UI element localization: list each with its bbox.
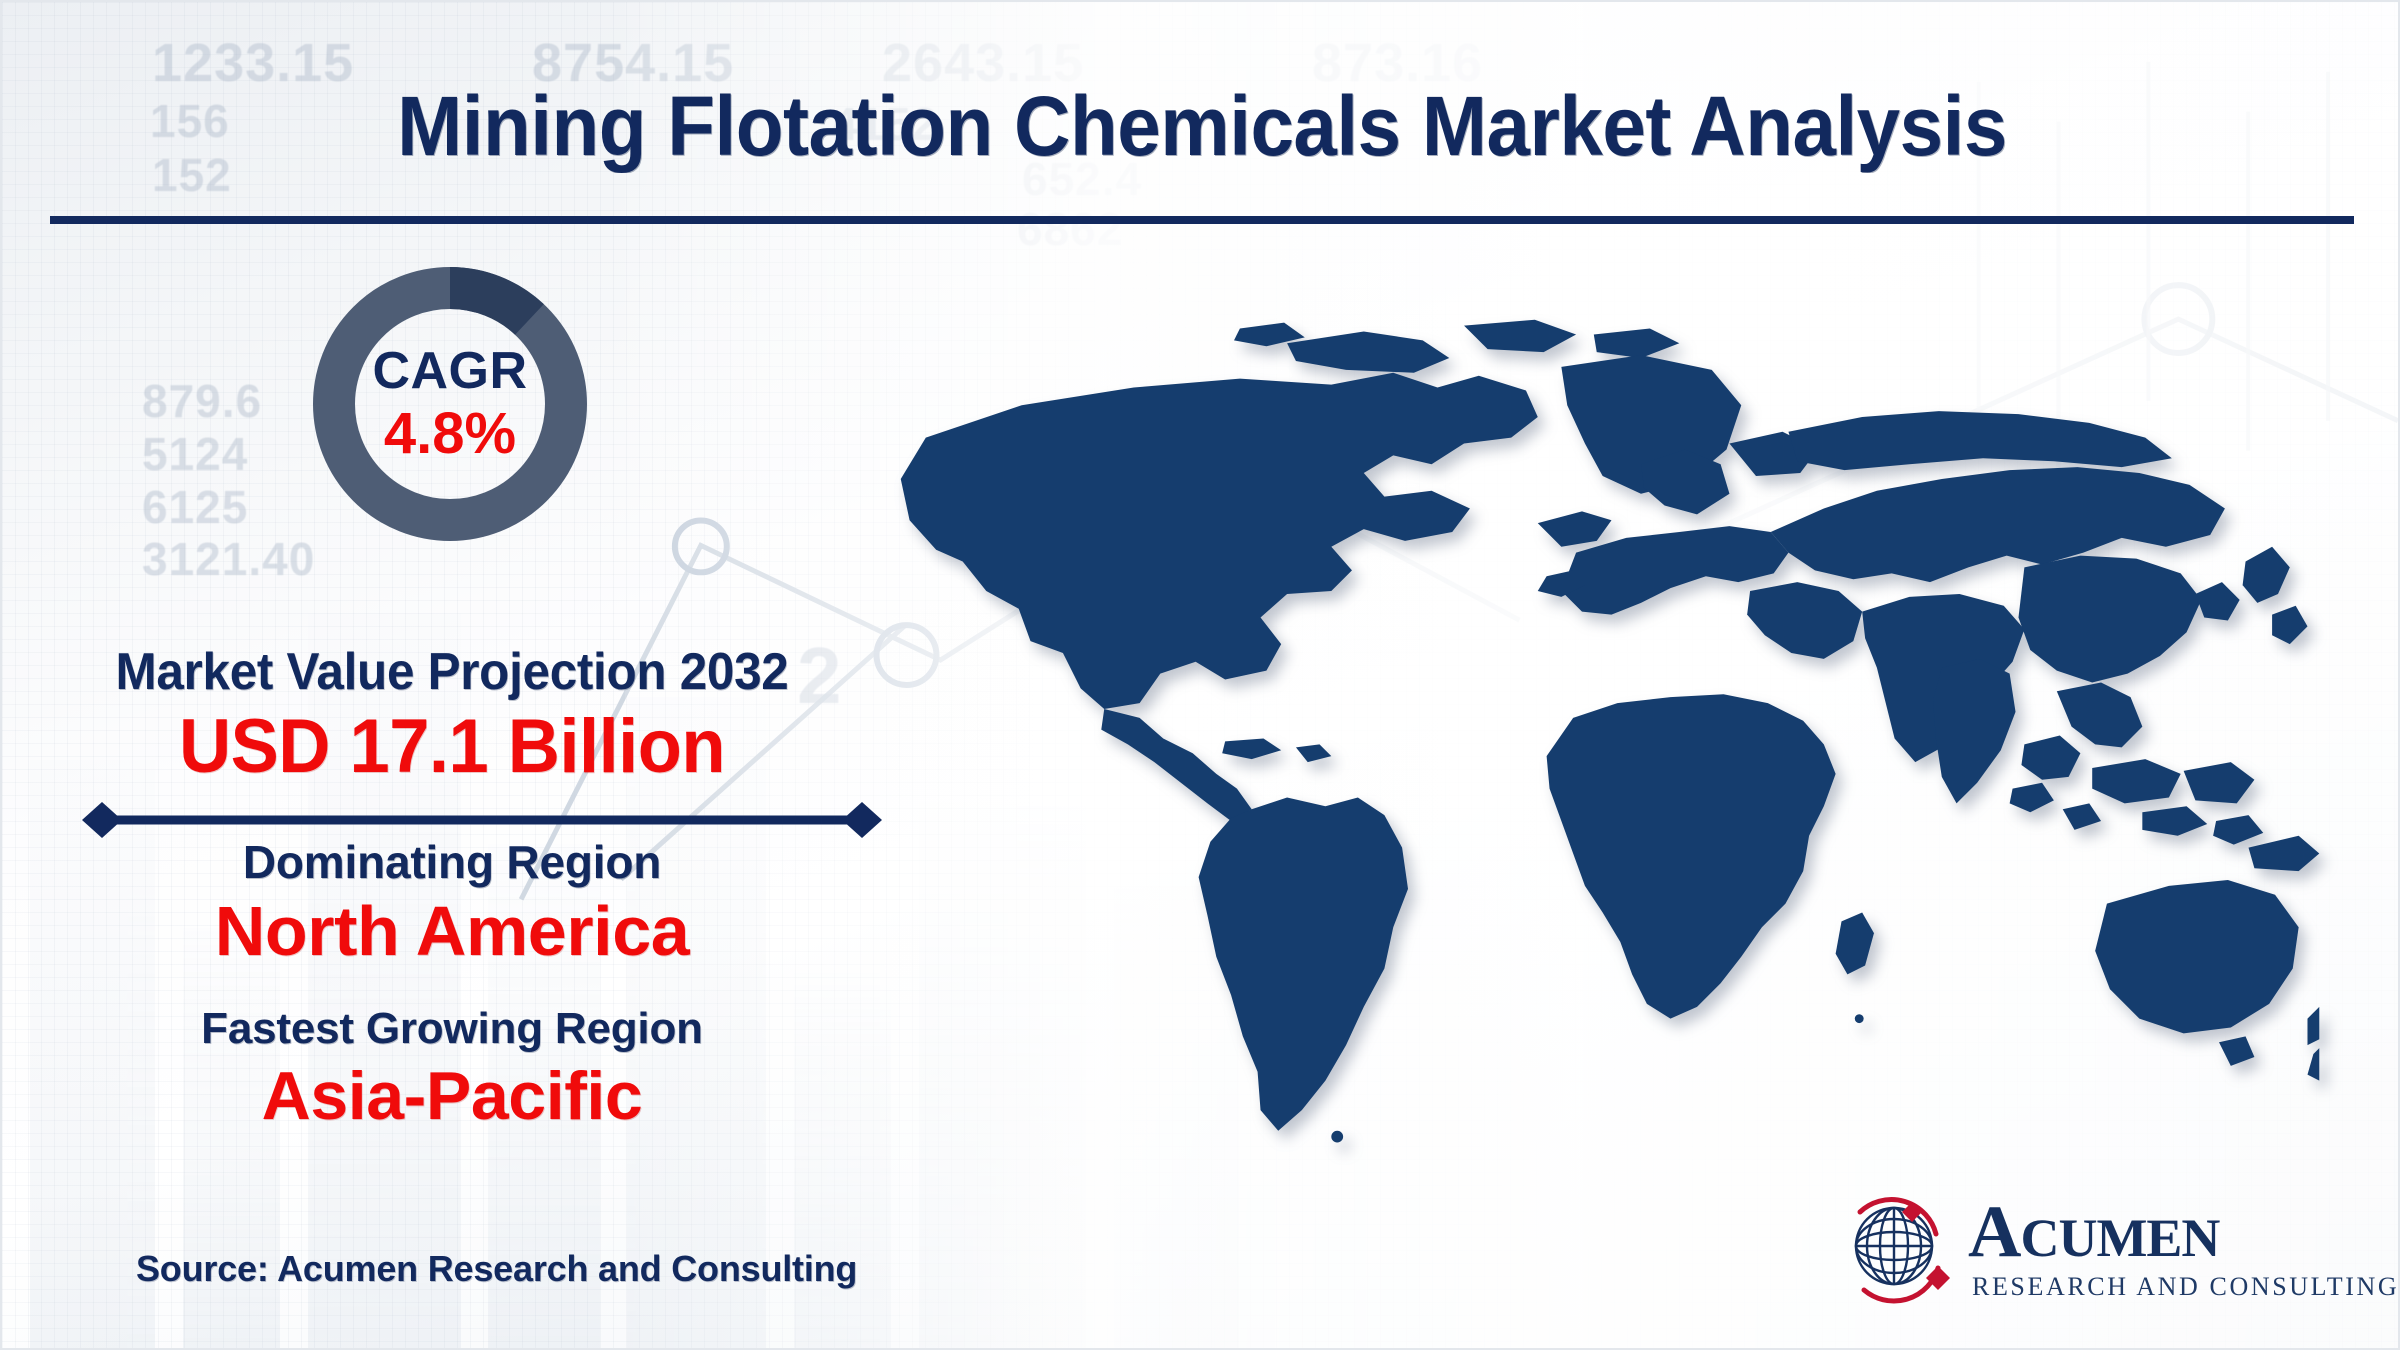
acumen-logo: ACUMEN RESEARCH AND CONSULTING bbox=[1840, 1188, 2310, 1312]
stat-value-market-value: USD 17.1 Billion bbox=[63, 704, 842, 790]
logo-brand-name: ACUMEN bbox=[1968, 1192, 2219, 1278]
stat-label-market-value: Market Value Projection 2032 bbox=[63, 642, 842, 702]
logo-wordmark: ACUMEN RESEARCH AND CONSULTING bbox=[1968, 1188, 2310, 1310]
ghost-number: 879.6 bbox=[142, 374, 262, 428]
logo-brand-rest: CUMEN bbox=[2020, 1208, 2219, 1268]
stat-label-fastest-region: Fastest Growing Region bbox=[42, 1002, 862, 1056]
world-map-graphic bbox=[842, 302, 2322, 1172]
stat-value-dominating-region: North America bbox=[42, 890, 862, 972]
divider-diamond-left bbox=[82, 802, 122, 838]
ghost-number: 6125 bbox=[142, 480, 248, 534]
page-title: Mining Flotation Chemicals Market Analys… bbox=[86, 80, 2318, 172]
title-divider-rule bbox=[50, 216, 2354, 224]
ghost-number: 3121.40 bbox=[142, 532, 315, 586]
world-map-landmasses bbox=[901, 320, 2320, 1143]
ghost-number: 5124 bbox=[142, 427, 248, 481]
infographic-canvas: 1233.15156152879.6512461253121.408754.15… bbox=[0, 0, 2400, 1350]
globe-icon bbox=[1840, 1190, 1960, 1308]
stat-value-fastest-region: Asia-Pacific bbox=[42, 1056, 862, 1136]
cagr-value: 4.8% bbox=[384, 403, 516, 465]
donut-center-labels: CAGR 4.8% bbox=[300, 254, 600, 554]
cagr-label: CAGR bbox=[372, 343, 527, 399]
stat-market-value-projection: Market Value Projection 2032 USD 17.1 Bi… bbox=[42, 642, 862, 790]
cagr-donut-chart: CAGR 4.8% bbox=[300, 254, 600, 554]
stat-dominating-region: Dominating Region North America bbox=[42, 834, 862, 972]
logo-tagline: RESEARCH AND CONSULTING bbox=[1972, 1272, 2399, 1302]
source-attribution: Source: Acumen Research and Consulting bbox=[136, 1248, 857, 1290]
logo-brand-initial: A bbox=[1968, 1191, 2020, 1273]
stat-fastest-growing-region: Fastest Growing Region Asia-Pacific bbox=[42, 1002, 862, 1136]
arrow-divider bbox=[82, 802, 882, 838]
world-map-svg bbox=[842, 302, 2322, 1172]
ghost-number: 6862 bbox=[1017, 202, 1123, 256]
stat-label-dominating-region: Dominating Region bbox=[42, 834, 862, 890]
